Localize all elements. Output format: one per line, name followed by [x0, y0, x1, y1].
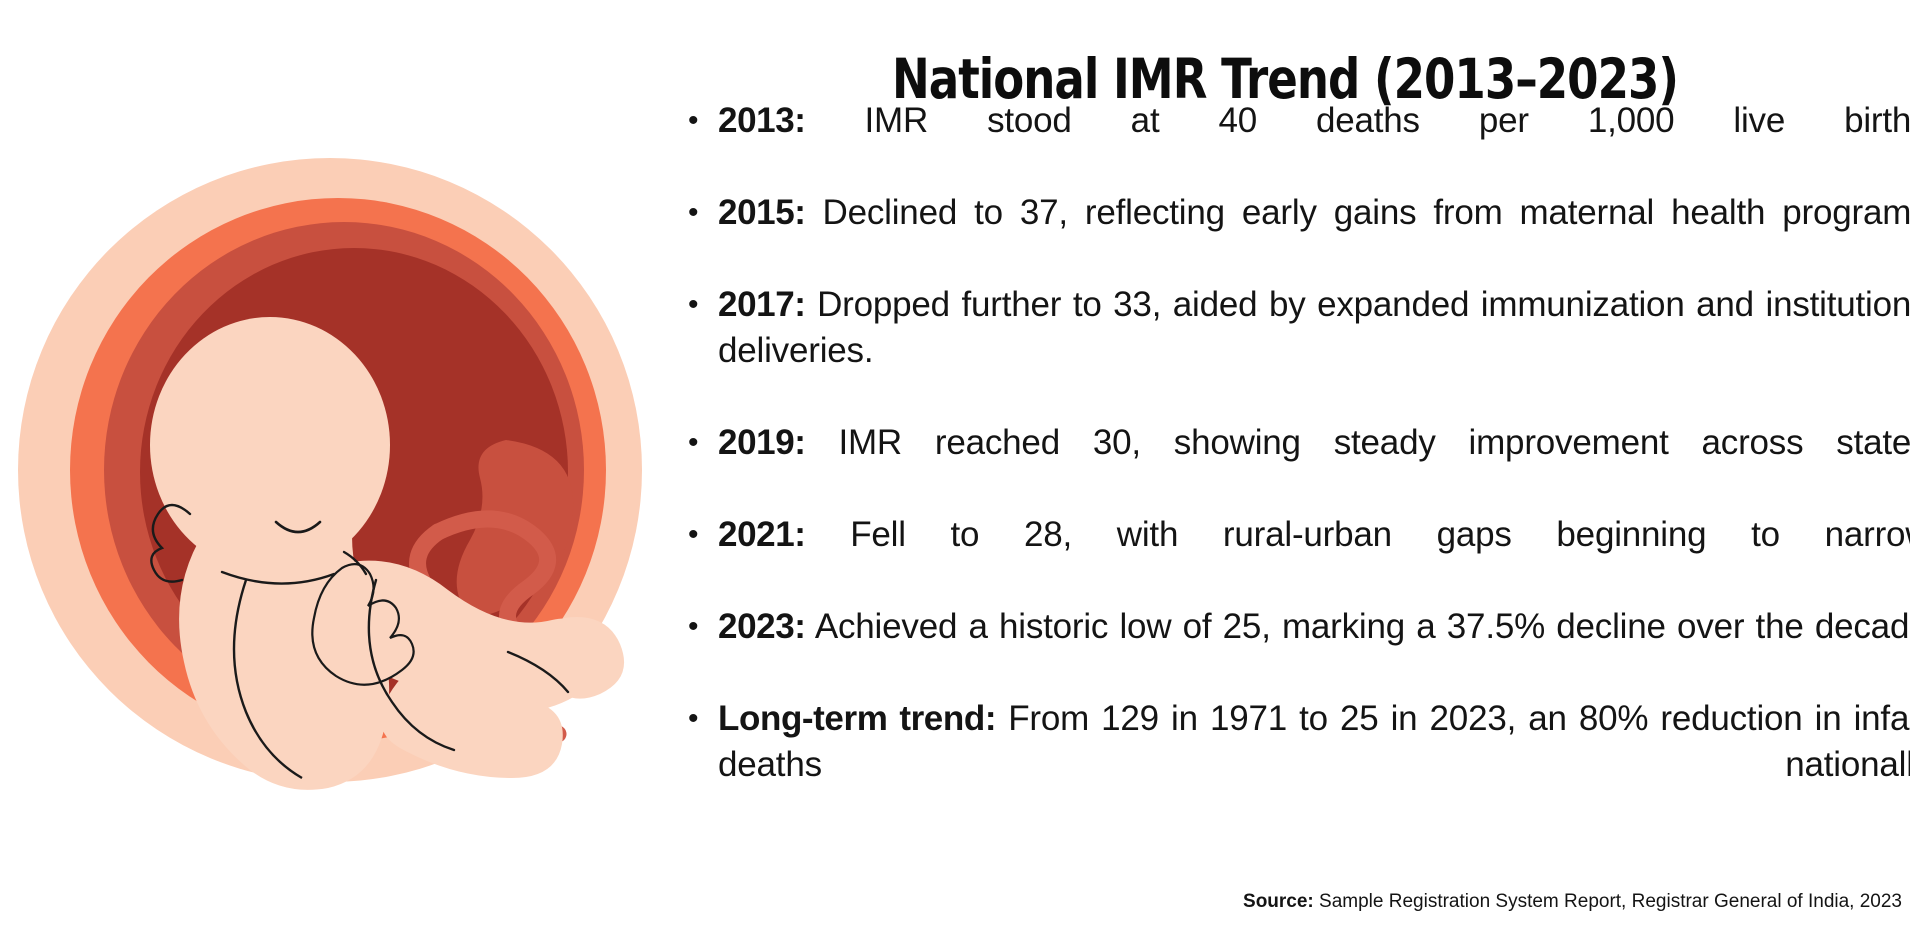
fact-label: Long-term trend: — [718, 699, 996, 738]
fact-label: 2013: — [718, 101, 806, 140]
fact-text: Dropped further to 33, aided by expanded… — [718, 285, 1910, 370]
list-item: 2013: IMR stood at 40 deaths per 1,000 l… — [718, 98, 1910, 190]
fact-label: 2023: — [718, 607, 806, 646]
fact-text: IMR stood at 40 deaths per 1,000 live bi… — [865, 101, 1910, 140]
fact-label: 2015: — [718, 193, 806, 232]
fact-label: 2021: — [718, 515, 806, 554]
fact-label: 2017: — [718, 285, 806, 324]
content-column: National IMR Trend (2013–2023) 2013: IMR… — [660, 0, 1910, 943]
fact-text: Declined to 37, reflecting early gains f… — [823, 193, 1910, 232]
source-text: Sample Registration System Report, Regis… — [1319, 891, 1902, 912]
list-item: 2019: IMR reached 30, showing steady imp… — [718, 420, 1910, 512]
fact-text: Fell to 28, with rural-urban gaps beginn… — [850, 515, 1910, 554]
list-item: 2023: Achieved a historic low of 25, mar… — [718, 604, 1910, 696]
list-item: 2015: Declined to 37, reflecting early g… — [718, 190, 1910, 282]
fact-text: IMR reached 30, showing steady improveme… — [838, 423, 1910, 462]
fact-text: Achieved a historic low of 25, marking a… — [815, 607, 1910, 646]
list-item: 2021: Fell to 28, with rural-urban gaps … — [718, 512, 1910, 604]
facts-list: 2013: IMR stood at 40 deaths per 1,000 l… — [660, 98, 1910, 834]
fetus-in-womb-illustration — [8, 140, 668, 800]
fact-label: 2019: — [718, 423, 806, 462]
list-item: 2017: Dropped further to 33, aided by ex… — [718, 282, 1910, 420]
source-label: Source: — [1243, 891, 1314, 912]
list-item: Long-term trend: From 129 in 1971 to 25 … — [718, 696, 1910, 834]
source-attribution: Source: Sample Registration System Repor… — [1243, 889, 1902, 915]
